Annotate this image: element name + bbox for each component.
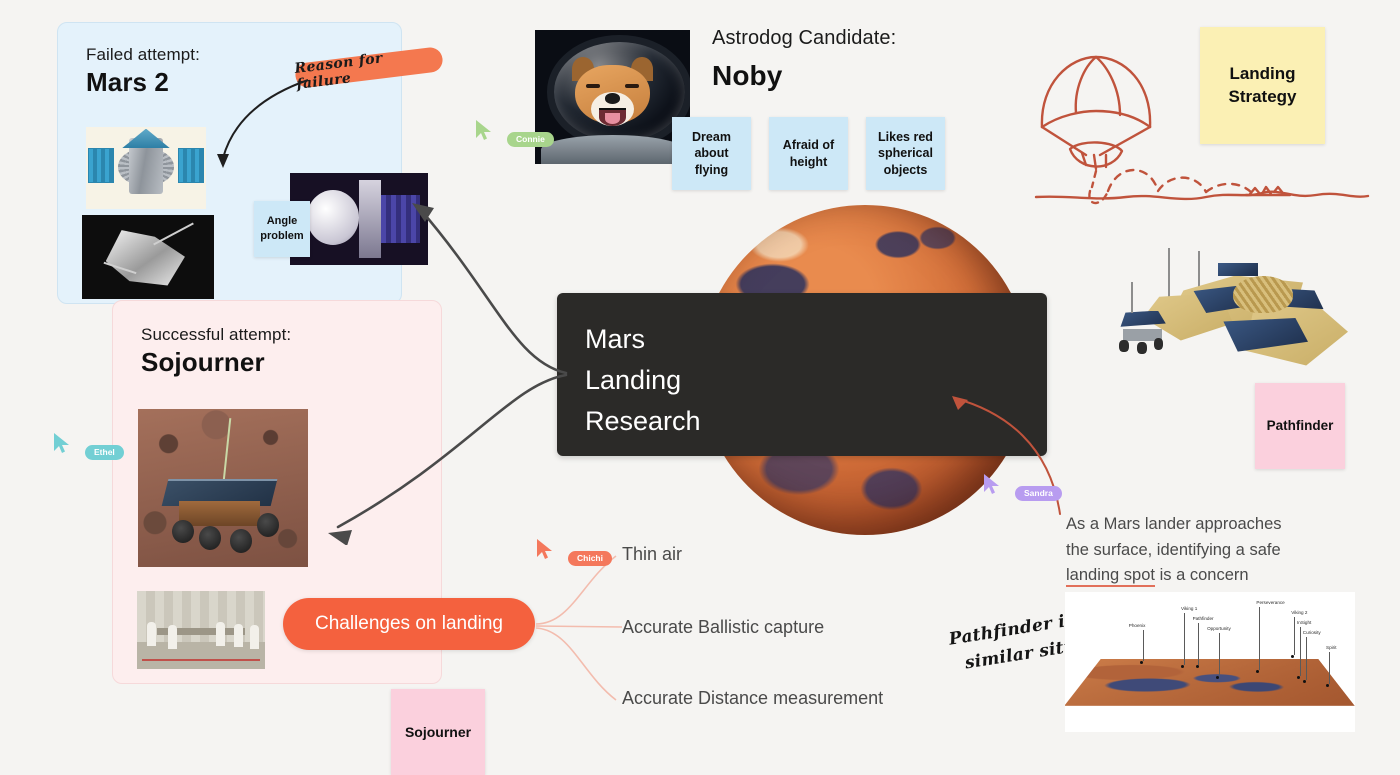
astrodog-name-text: Noby xyxy=(712,60,896,92)
challenge-branch-2-label: Accurate Distance measurement xyxy=(622,688,883,708)
site-label: Phoenix xyxy=(1129,623,1146,628)
landing-sites-map-image[interactable]: PhoenixViking 1PathfinderOpportunityPers… xyxy=(1065,592,1355,732)
site-dot xyxy=(1326,684,1329,687)
site-label: Pathfinder xyxy=(1193,616,1214,621)
pathfinder-desc-line2: the surface, identifying a safe xyxy=(1066,538,1376,564)
cursor-ethel[interactable]: Ethel xyxy=(52,432,124,460)
site-leader-line xyxy=(1143,630,1144,661)
failed-title-text: Mars 2 xyxy=(86,67,200,98)
site-leader-line xyxy=(1329,652,1330,684)
sticky-trait-1-label: Afraid of height xyxy=(783,137,834,170)
sticky-pathfinder-label: Pathfinder xyxy=(1267,417,1334,435)
challenge-branch-1: Accurate Ballistic capture xyxy=(622,617,824,638)
sticky-trait-0-label: Dream about flying xyxy=(692,129,731,179)
cursor-ethel-label: Ethel xyxy=(85,445,124,460)
cursor-sandra[interactable]: Sandra xyxy=(982,473,1062,501)
cursor-sandra-label: Sandra xyxy=(1015,486,1062,501)
site-label: Curiosity xyxy=(1303,630,1321,635)
pathfinder-description: As a Mars lander approaches the surface,… xyxy=(1066,512,1376,589)
site-label: Viking 2 xyxy=(1291,610,1307,615)
site-leader-line xyxy=(1219,633,1220,676)
sticky-trait-2-label: Likes red spherical objects xyxy=(878,129,933,179)
parachute-descent-sketch xyxy=(1030,45,1370,220)
failed-panel-kicker: Failed attempt: Mars 2 xyxy=(86,45,200,98)
whiteboard-canvas[interactable]: Failed attempt: Mars 2 Angle problem Rea… xyxy=(0,0,1400,735)
site-leader-line xyxy=(1300,627,1301,676)
arrow-reason-to-angle xyxy=(190,72,320,192)
challenge-branch-0: Thin air xyxy=(622,544,682,565)
cursor-connie-label: Connie xyxy=(507,132,554,147)
success-kicker-text: Successful attempt: xyxy=(141,325,291,345)
sticky-sojourner-label: Sojourner xyxy=(405,723,471,741)
astrodog-kicker-text: Astrodog Candidate: xyxy=(712,27,896,50)
site-dot xyxy=(1140,661,1143,664)
cursor-pointer-icon xyxy=(474,119,494,141)
pathfinder-lander-image[interactable] xyxy=(1108,248,1358,373)
sticky-pathfinder[interactable]: Pathfinder xyxy=(1255,383,1345,469)
sticky-sojourner[interactable]: Sojourner xyxy=(391,689,485,775)
site-label: Spirit xyxy=(1326,645,1336,650)
sticky-trait-0[interactable]: Dream about flying xyxy=(672,117,751,190)
site-dot xyxy=(1291,655,1294,658)
site-dot xyxy=(1297,676,1300,679)
sticky-trait-1[interactable]: Afraid of height xyxy=(769,117,848,190)
sticky-trait-2[interactable]: Likes red spherical objects xyxy=(866,117,945,190)
cursor-connie[interactable]: Connie xyxy=(474,119,554,147)
curve-mars-to-description xyxy=(940,390,1075,520)
cursor-pointer-icon xyxy=(982,473,1002,495)
site-leader-line xyxy=(1306,637,1307,680)
site-label: Opportunity xyxy=(1207,626,1231,631)
site-label: InSight xyxy=(1297,620,1311,625)
astrodog-heading: Astrodog Candidate: Noby xyxy=(712,27,896,92)
site-dot xyxy=(1181,665,1184,668)
cursor-chichi[interactable]: Chichi xyxy=(535,538,612,566)
site-label: Perseverance xyxy=(1256,600,1284,605)
astrodog-photo[interactable] xyxy=(535,30,690,164)
sojourner-lab-image[interactable] xyxy=(137,591,265,669)
site-dot xyxy=(1256,670,1259,673)
challenges-branch-lines xyxy=(530,540,630,720)
pathfinder-desc-line1: As a Mars lander approaches xyxy=(1066,512,1376,538)
site-dot xyxy=(1303,680,1306,683)
site-leader-line xyxy=(1259,607,1260,670)
site-label: Viking 1 xyxy=(1181,606,1197,611)
mars2-crash-image[interactable] xyxy=(82,215,214,299)
challenge-branch-2: Accurate Distance measurement xyxy=(622,688,883,709)
site-dot xyxy=(1196,665,1199,668)
challenge-branch-0-label: Thin air xyxy=(622,544,682,564)
connector-arrows xyxy=(300,185,580,545)
site-leader-line xyxy=(1184,613,1185,665)
cursor-chichi-label: Chichi xyxy=(568,551,612,566)
challenges-hub-button[interactable]: Challenges on landing xyxy=(283,598,535,650)
cursor-pointer-icon xyxy=(535,538,555,560)
sojourner-rover-image[interactable] xyxy=(138,409,308,567)
center-title-line1: Mars xyxy=(585,319,1047,360)
success-title-text: Sojourner xyxy=(141,347,291,378)
failed-kicker-text: Failed attempt: xyxy=(86,45,200,65)
pathfinder-desc-underlined: landing spot xyxy=(1066,566,1155,587)
cursor-pointer-icon xyxy=(52,432,72,454)
landing-sites-labels: PhoenixViking 1PathfinderOpportunityPers… xyxy=(1065,592,1355,732)
challenge-branch-1-label: Accurate Ballistic capture xyxy=(622,617,824,637)
site-leader-line xyxy=(1198,623,1199,665)
site-leader-line xyxy=(1294,617,1295,655)
pathfinder-desc-rest: is a concern xyxy=(1155,566,1249,584)
challenges-hub-label: Challenges on landing xyxy=(315,613,503,635)
success-panel-kicker: Successful attempt: Sojourner xyxy=(141,325,291,378)
site-dot xyxy=(1216,676,1219,679)
mars2-orbiter-image[interactable] xyxy=(86,127,206,209)
